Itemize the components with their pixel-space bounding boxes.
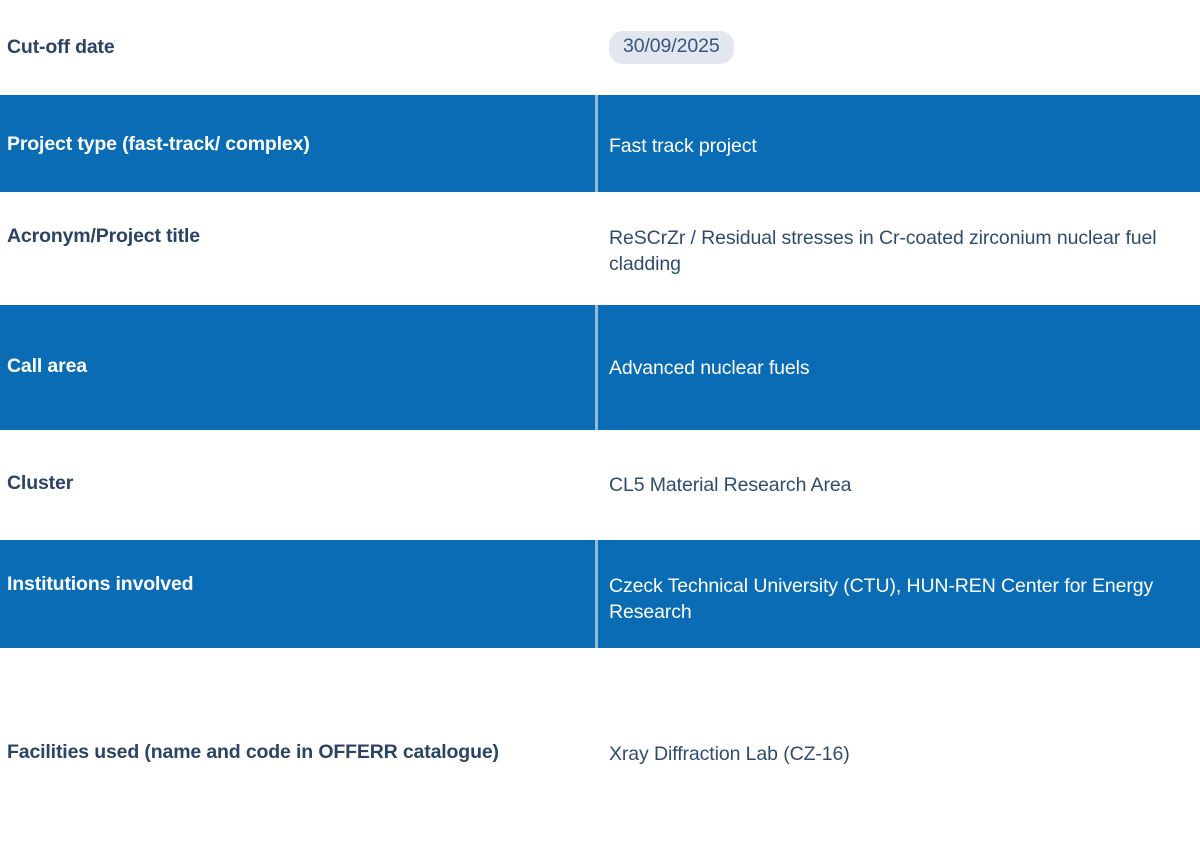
row-label-cell: Call area xyxy=(0,305,598,430)
row-value-facilities-used: Xray Diffraction Lab (CZ-16) xyxy=(609,741,850,767)
row-label-institutions-involved: Institutions involved xyxy=(7,573,193,597)
row-value-institutions-involved: Czeck Technical University (CTU), HUN-RE… xyxy=(609,573,1186,626)
row-value-acronym-project-title: ReSCrZr / Residual stresses in Cr-coated… xyxy=(609,225,1186,278)
table-row: Acronym/Project title ReSCrZr / Residual… xyxy=(0,192,1200,305)
row-label-cell: Project type (fast-track/ complex) xyxy=(0,95,598,192)
table-row: Project type (fast-track/ complex) Fast … xyxy=(0,95,1200,192)
row-label-acronym-project-title: Acronym/Project title xyxy=(7,225,200,249)
project-summary-table: Cut-off date 30/09/2025 Project type (fa… xyxy=(0,0,1200,856)
cutoff-date-label: Cut-off date xyxy=(0,36,598,59)
row-label-facilities-used: Facilities used (name and code in OFFERR… xyxy=(7,741,499,765)
row-label-cluster: Cluster xyxy=(7,472,73,496)
row-label-cell: Facilities used (name and code in OFFERR… xyxy=(0,648,598,856)
row-value-cell: Advanced nuclear fuels xyxy=(598,305,1200,430)
table-row: Call area Advanced nuclear fuels xyxy=(0,305,1200,430)
row-value-cell: Czeck Technical University (CTU), HUN-RE… xyxy=(598,540,1200,648)
cutoff-date-value-container: 30/09/2025 xyxy=(598,31,1200,64)
row-label-call-area: Call area xyxy=(7,355,87,379)
cutoff-date-pill: 30/09/2025 xyxy=(609,31,734,64)
row-value-call-area: Advanced nuclear fuels xyxy=(609,355,810,381)
row-label-cell: Institutions involved xyxy=(0,540,598,648)
row-value-cell: Fast track project xyxy=(598,95,1200,192)
cutoff-date-row: Cut-off date 30/09/2025 xyxy=(0,0,1200,95)
row-label-cell: Cluster xyxy=(0,430,598,540)
table-row: Institutions involved Czeck Technical Un… xyxy=(0,540,1200,648)
row-label-project-type: Project type (fast-track/ complex) xyxy=(7,133,310,157)
row-value-cell: ReSCrZr / Residual stresses in Cr-coated… xyxy=(598,192,1200,305)
row-value-cell: CL5 Material Research Area xyxy=(598,430,1200,540)
row-value-cell: Xray Diffraction Lab (CZ-16) xyxy=(598,648,1200,856)
row-value-project-type: Fast track project xyxy=(609,133,757,159)
table-row: Facilities used (name and code in OFFERR… xyxy=(0,648,1200,856)
row-value-cluster: CL5 Material Research Area xyxy=(609,472,851,498)
row-label-cell: Acronym/Project title xyxy=(0,192,598,305)
table-row: Cluster CL5 Material Research Area xyxy=(0,430,1200,540)
